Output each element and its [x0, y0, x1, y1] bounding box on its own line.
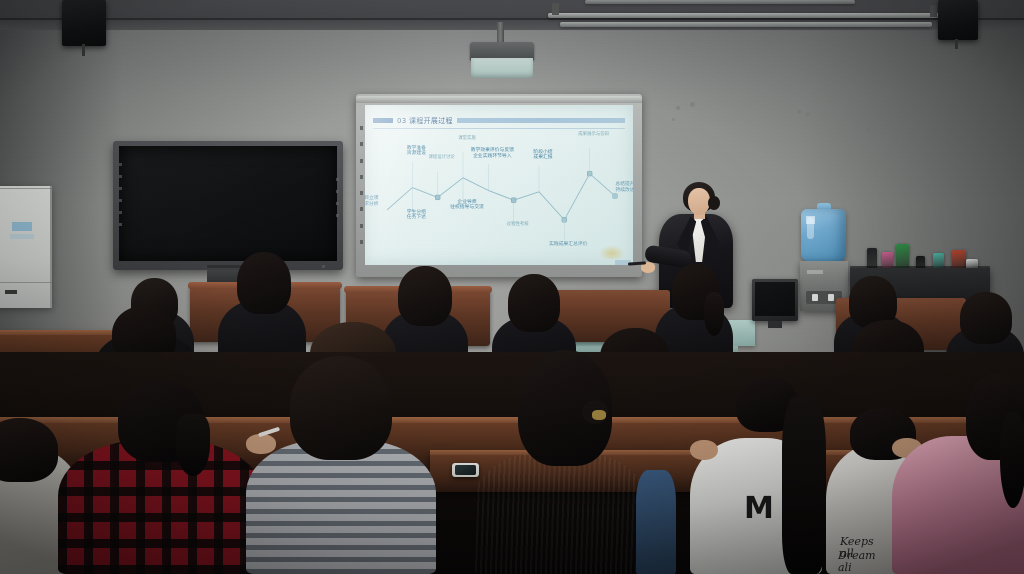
slide-title: 03 课程开展过程: [397, 116, 453, 126]
title-accent-bar-left: [373, 118, 393, 123]
projection-screen[interactable]: 03 课程开展过程 项目立项需求分析教学准备资源建设课程设计讨论课堂实施教学效果…: [365, 105, 633, 265]
student-hand: [690, 440, 718, 460]
student-ponytail: [704, 292, 724, 336]
chart-annotation: 课堂实施: [445, 136, 489, 142]
student-hair-strand: [176, 414, 210, 476]
chart-annotation: 项目立项需求分析: [365, 196, 391, 207]
cooler-brand-label: [807, 270, 823, 274]
power-led-icon: [322, 265, 325, 268]
jug-label: [806, 216, 815, 224]
fluorescent-light: [548, 13, 940, 18]
ceiling-speaker-right: [938, 0, 978, 40]
chart-marker: [613, 194, 618, 199]
whiteboard-button[interactable]: [360, 159, 363, 163]
smartphone-screen: [455, 465, 476, 475]
chart-annotation: 课程设计讨论: [420, 155, 464, 161]
student-hair: [398, 266, 452, 326]
display-button[interactable]: [119, 163, 122, 166]
hoodie-print-letter: M: [744, 494, 774, 524]
chart-annotation: 实践成果汇总评价: [546, 242, 590, 248]
display-button[interactable]: [119, 199, 122, 202]
chart-annotation: 学生分组任务下达: [394, 210, 438, 221]
slide-line-chart: 项目立项需求分析教学准备资源建设课程设计讨论课堂实施教学效果评价与反馈企业实践环…: [365, 131, 633, 265]
display-button-column-right[interactable]: [336, 178, 339, 217]
fluorescent-light: [560, 22, 932, 27]
cabinet-seam: [0, 188, 52, 189]
student-hand: [246, 434, 276, 454]
whiteboard-button[interactable]: [360, 142, 363, 146]
chart-annotation: 阶段小结成果汇报: [521, 150, 565, 161]
student-ponytail: [782, 396, 826, 574]
whiteboard-button[interactable]: [360, 191, 363, 195]
display-button[interactable]: [119, 175, 122, 178]
whiteboard-button[interactable]: [360, 207, 363, 211]
projector-mount: [497, 22, 504, 44]
chart-annotation: 总结提升持续改进: [603, 182, 633, 193]
chart-markers: [435, 171, 617, 222]
display-button[interactable]: [119, 187, 122, 190]
left-whiteboard-cabinet[interactable]: [0, 186, 52, 308]
wall-mark: [676, 106, 680, 110]
student-hair: [508, 274, 560, 332]
student-hair: [237, 252, 291, 314]
hoodie-print-line2: Dream ali: [838, 550, 876, 573]
student-striped-shirt: [246, 440, 436, 574]
chart-annotation: 企业导师驻校指导与交流: [445, 200, 489, 211]
whiteboard-button[interactable]: [360, 240, 363, 244]
speaker-bracket: [82, 44, 85, 56]
wall-display[interactable]: [113, 141, 343, 270]
presenter-face: [688, 188, 710, 215]
display-button[interactable]: [119, 223, 122, 226]
wall-mark: [672, 118, 675, 121]
monitor-stand: [768, 321, 782, 328]
whiteboard-button[interactable]: [360, 224, 363, 228]
whiteboard-button[interactable]: [360, 126, 363, 130]
title-accent-bar-right: [457, 118, 625, 123]
cabinet-notice: [10, 234, 34, 239]
slide-title-banner: 03 课程开展过程: [373, 115, 625, 126]
chart-annotation: 过程性考核: [496, 222, 540, 228]
student-hair: [960, 292, 1012, 344]
wall-mark: [806, 113, 809, 116]
wall-mark: [880, 132, 883, 135]
light-mount: [930, 5, 937, 17]
classroom-photo: 03 课程开展过程 项目立项需求分析教学准备资源建设课程设计讨论课堂实施教学效果…: [0, 0, 1024, 574]
presenter-hair-bun: [708, 196, 720, 210]
student-hair-side: [1000, 412, 1024, 508]
display-button[interactable]: [336, 190, 339, 193]
chart-annotation: 成果展示与答辩: [572, 132, 616, 138]
speaker-bracket: [955, 39, 958, 49]
cabinet-seam: [0, 282, 52, 283]
slide-logo: [599, 245, 625, 259]
whiteboard-top-rail: [356, 96, 642, 103]
wall-mark: [690, 102, 695, 107]
display-button[interactable]: [119, 211, 122, 214]
student-hair: [290, 356, 392, 460]
hair-tie: [592, 410, 606, 420]
desk-middle-edge: [0, 330, 122, 335]
wall-display-screen: [119, 146, 337, 261]
cabinet-handle[interactable]: [5, 290, 17, 294]
display-button-column[interactable]: [119, 163, 122, 226]
ceiling-speaker-left: [62, 0, 106, 46]
fluorescent-light: [585, 0, 855, 4]
display-button[interactable]: [336, 178, 339, 181]
ceiling-seam: [0, 18, 1024, 20]
monitor-screen: [755, 282, 795, 316]
wall-mark: [798, 110, 801, 113]
slide-title-underline: [373, 128, 625, 129]
cabinet-notice: [12, 222, 32, 231]
projector-lens: [471, 58, 533, 78]
cooler-tap-hot[interactable]: [828, 294, 834, 301]
light-mount: [552, 3, 559, 15]
student-torso: [636, 470, 676, 574]
chart-annotation: 教学效果评价与反馈企业实践环节导入: [470, 148, 514, 159]
whiteboard-button[interactable]: [360, 175, 363, 179]
display-button[interactable]: [336, 202, 339, 205]
cooler-tap-cold[interactable]: [812, 294, 818, 301]
wall-mark: [866, 128, 870, 131]
display-button[interactable]: [336, 214, 339, 217]
whiteboard-side-buttons[interactable]: [359, 120, 363, 250]
student-denim-jacket: [474, 452, 646, 574]
